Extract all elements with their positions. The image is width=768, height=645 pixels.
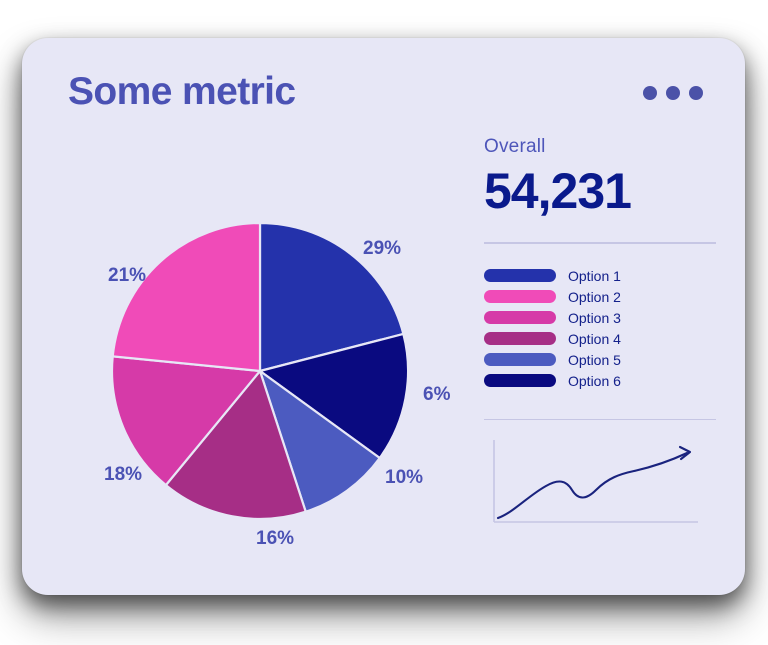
- legend-item-option-3[interactable]: Option 3: [484, 308, 716, 328]
- pie-label-option-6: 6%: [423, 384, 450, 406]
- pie-label-option-4: 16%: [256, 528, 294, 550]
- pie-label-option-5: 10%: [385, 467, 423, 489]
- legend-label-option-5: Option 5: [568, 352, 621, 368]
- legend-item-option-4[interactable]: Option 4: [484, 329, 716, 349]
- kebab-dot-3: [689, 86, 703, 100]
- legend-item-option-2[interactable]: Option 2: [484, 287, 716, 307]
- overall-value: 54,231: [484, 162, 716, 220]
- kebab-dot-2: [666, 86, 680, 100]
- legend-label-option-2: Option 2: [568, 289, 621, 305]
- summary-panel: Overall 54,231 Option 1 Option 2 Option …: [484, 136, 716, 539]
- legend-label-option-1: Option 1: [568, 268, 621, 284]
- legend-swatch-option-5: [484, 353, 556, 366]
- metric-card: Some metric: [22, 38, 745, 595]
- pie-label-option-2: 21%: [108, 265, 146, 287]
- sparkline-curve: [498, 453, 687, 518]
- legend-label-option-3: Option 3: [568, 310, 621, 326]
- legend-swatch-option-4: [484, 332, 556, 345]
- trend-sparkline[interactable]: [484, 434, 716, 539]
- legend-item-option-1[interactable]: Option 1: [484, 266, 716, 286]
- legend-item-option-6[interactable]: Option 6: [484, 371, 716, 391]
- legend-label-option-4: Option 4: [568, 331, 621, 347]
- legend-swatch-option-3: [484, 311, 556, 324]
- legend-label-option-6: Option 6: [568, 373, 621, 389]
- divider-top: [484, 242, 716, 244]
- overall-label: Overall: [484, 136, 716, 158]
- pie-label-option-3: 18%: [104, 464, 142, 486]
- pie-chart: 29% 6% 10% 16% 18% 21%: [40, 188, 460, 568]
- screenshot-root: Some metric: [0, 0, 768, 645]
- pie-label-option-1: 29%: [363, 238, 401, 260]
- pie-slice-option-2[interactable]: [113, 223, 260, 371]
- page-title: Some metric: [68, 70, 296, 114]
- chart-legend: Option 1 Option 2 Option 3 Option 4 Opti: [484, 266, 716, 391]
- kebab-dot-1: [643, 86, 657, 100]
- trend-sparkline-svg: [484, 434, 706, 534]
- kebab-menu-icon[interactable]: [643, 86, 703, 100]
- divider-bottom: [484, 419, 716, 421]
- legend-swatch-option-6: [484, 374, 556, 387]
- legend-swatch-option-1: [484, 269, 556, 282]
- legend-swatch-option-2: [484, 290, 556, 303]
- legend-item-option-5[interactable]: Option 5: [484, 350, 716, 370]
